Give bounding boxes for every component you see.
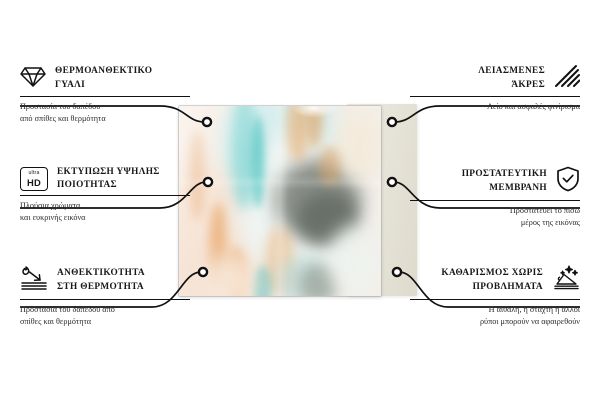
marble-artwork <box>179 106 381 296</box>
feature-title: ΑΝΘΕΚΤΙΚΟΤΗΤΑ ΣΤΗ ΘΕΡΜΟΤΗΤΑ <box>57 267 145 293</box>
product-image <box>179 106 419 296</box>
wipe-sparkle-icon <box>552 265 580 296</box>
diamond-icon <box>20 64 46 93</box>
feature-underline <box>410 96 580 97</box>
feature-description: Προστασία του δαπέδου από σπίθες και θερ… <box>20 101 190 124</box>
shield-check-icon <box>556 166 580 197</box>
feature-title: ΚΑΘΑΡΙΣΜΟΣ ΧΩΡΙΣ ΠΡΟΒΛΗΜΑΤΑ <box>441 267 543 293</box>
feature-title: ΕΚΤΥΠΩΣΗ ΥΨΗΛΗΣ ΠΟΙΟΤΗΤΑΣ <box>57 166 160 192</box>
feature-underline <box>20 195 190 196</box>
feature-description: Λείο και ασφαλές φινίρισμα <box>410 101 580 113</box>
feature-description: Προστατεύει το πίσω μέρος της εικόνας <box>410 205 580 228</box>
feature-title: ΘΕΡΜΟΑΝΘΕΚΤΙΚΟ ΓΥΑΛΙ <box>55 65 152 91</box>
feature-underline <box>20 299 190 300</box>
feature-description: Πλούσια χρώματα και ευκρινής εικόνα <box>20 200 190 223</box>
feature-description: Η αιθάλη, η στάχτη ή άλλοι ρύποι μπορούν… <box>410 304 580 327</box>
feature-title: ΠΡΟΣΤΑΤΕΥΤΙΚΗ ΜΕΜΒΡΑΝΗ <box>462 168 547 194</box>
feature-high-quality-print: ultraHD ΕΚΤΥΠΩΣΗ ΥΨΗΛΗΣ ΠΟΙΟΤΗΤΑΣ Πλούσι… <box>20 166 190 224</box>
feature-easy-cleaning: ΚΑΘΑΡΙΣΜΟΣ ΧΩΡΙΣ ΠΡΟΒΛΗΜΑΤΑ Η αιθάλη, η … <box>410 265 580 327</box>
feature-heat-resistant-glass: ΘΕΡΜΟΑΝΘΕΚΤΙΚΟ ΓΥΑΛΙ Προστασία του δαπέδ… <box>20 64 190 124</box>
feature-title: ΛΕΙΑΣΜΕΝΕΣ ΆΚΡΕΣ <box>478 65 545 91</box>
flame-deflect-icon <box>20 265 48 296</box>
feature-description: Προστασία του δαπέδου από σπίθες και θερ… <box>20 304 190 327</box>
ultra-hd-icon: ultraHD <box>20 167 48 191</box>
feature-heat-durability: ΑΝΘΕΚΤΙΚΟΤΗΤΑ ΣΤΗ ΘΕΡΜΟΤΗΤΑ Προστασία το… <box>20 265 190 327</box>
feature-protective-membrane: ΠΡΟΣΤΑΤΕΥΤΙΚΗ ΜΕΜΒΡΑΝΗ Προστατεύει το πί… <box>410 166 580 228</box>
infographic-canvas: ΘΕΡΜΟΑΝΘΕΚΤΙΚΟ ΓΥΑΛΙ Προστασία του δαπέδ… <box>0 0 600 400</box>
glass-panel <box>179 106 381 296</box>
diagonal-hatch-icon <box>554 64 580 93</box>
feature-underline <box>20 96 190 97</box>
feature-underline <box>410 200 580 201</box>
feature-polished-edges: ΛΕΙΑΣΜΕΝΕΣ ΆΚΡΕΣ Λείο και ασφαλές φινίρι… <box>410 64 580 113</box>
feature-underline <box>410 299 580 300</box>
